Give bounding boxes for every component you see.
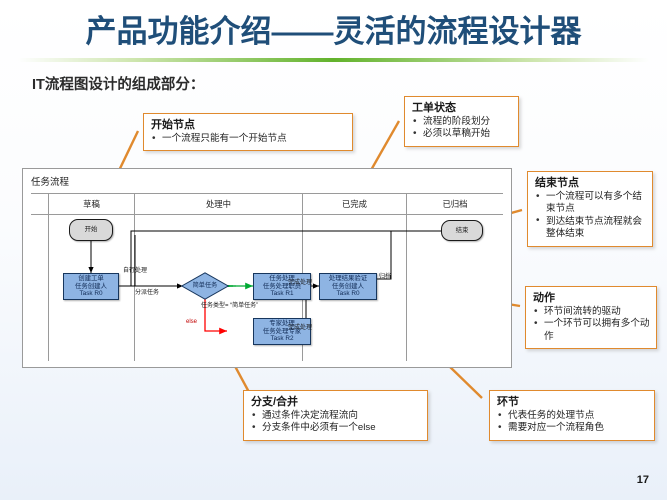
callout-start-node-list: 一个流程只能有一个开始节点 (151, 133, 346, 145)
callout-branch-merge-bullet-1: 通过条件决定流程流向 (251, 410, 421, 422)
callout-ticket-status-bullet-2: 必须以草稿开始 (412, 128, 512, 140)
callout-action-bullet-1: 环节间流转的驱动 (533, 306, 650, 318)
callout-branch-merge-list: 通过条件决定流程流向 分支条件中必须有一个else (251, 410, 421, 435)
callout-step[interactable]: 环节 代表任务的处理节点 需要对应一个流程角色 (489, 390, 655, 441)
callout-branch-merge-title: 分支/合并 (251, 395, 421, 409)
callout-end-node-bullet-1: 一个流程可以有多个结束节点 (535, 191, 646, 216)
callout-ticket-status[interactable]: 工单状态 流程的阶段划分 必须以草稿开始 (404, 96, 519, 147)
edge-label-self-handle: 自行处理 (123, 265, 147, 274)
callout-step-bullet-1: 代表任务的处理节点 (497, 410, 648, 422)
edge-label-finish-2: 完成处理 (288, 322, 312, 331)
callout-branch-merge[interactable]: 分支/合并 通过条件决定流程流向 分支条件中必须有一个else (243, 390, 428, 441)
callout-action[interactable]: 动作 环节间流转的驱动 一个环节可以拥有多个动作 (525, 286, 657, 349)
callout-start-node-bullet-1: 一个流程只能有一个开始节点 (151, 133, 346, 145)
flow-diagram: 任务流程 草稿 处理中 已完成 已归档 (22, 168, 512, 368)
callout-action-title: 动作 (533, 291, 650, 305)
node-start-label: 开始 (85, 226, 98, 234)
node-create-ticket[interactable]: 创建工单 任务创建人 Task R0 (63, 273, 119, 300)
callout-ticket-status-title: 工单状态 (412, 101, 512, 115)
node-end-label: 结束 (456, 227, 469, 235)
edge-label-archive: 归档 (379, 271, 391, 280)
node-decision-label: 简单任务 (193, 282, 218, 290)
node-decision-simple-task[interactable]: 简单任务 (181, 272, 229, 300)
node-create-line3: Task R0 (79, 290, 102, 298)
edge-label-else: else (186, 319, 197, 325)
callout-branch-merge-bullet-2: 分支条件中必须有一个else (251, 422, 421, 434)
callout-action-bullet-2: 一个环节可以拥有多个动作 (533, 318, 650, 343)
page-title: 产品功能介绍——灵活的流程设计器 (0, 6, 667, 51)
callout-step-list: 代表任务的处理节点 需要对应一个流程角色 (497, 410, 648, 435)
node-start[interactable]: 开始 (69, 219, 113, 241)
callout-end-node[interactable]: 结束节点 一个流程可以有多个结束节点 到达结束节点流程就会整体结束 (527, 171, 653, 247)
title-divider (18, 58, 649, 62)
callout-end-node-list: 一个流程可以有多个结束节点 到达结束节点流程就会整体结束 (535, 191, 646, 241)
callout-action-list: 环节间流转的驱动 一个环节可以拥有多个动作 (533, 306, 650, 343)
node-verify-line1: 处理结果验证 (329, 275, 367, 283)
node-expert-line3: Task R2 (270, 335, 293, 343)
node-create-line1: 创建工单 (78, 275, 104, 283)
node-verify-line3: Task R0 (336, 290, 359, 298)
node-verify-line2: 任务创建人 (332, 283, 364, 291)
callout-end-node-bullet-2: 到达结束节点流程就会整体结束 (535, 216, 646, 241)
callout-step-bullet-2: 需要对应一个流程角色 (497, 422, 648, 434)
edge-label-dispatch: 分派任务 (135, 287, 159, 296)
page-number: 17 (637, 474, 649, 486)
node-handle-line3: Task R1 (270, 290, 293, 298)
subtitle: IT流程图设计的组成部分： (32, 73, 204, 94)
callout-ticket-status-list: 流程的阶段划分 必须以草稿开始 (412, 116, 512, 141)
callout-ticket-status-bullet-1: 流程的阶段划分 (412, 116, 512, 128)
node-end[interactable]: 结束 (441, 220, 483, 241)
callout-end-node-title: 结束节点 (535, 176, 646, 190)
callout-step-title: 环节 (497, 395, 648, 409)
node-create-line2: 任务创建人 (75, 283, 107, 291)
node-verify-result[interactable]: 处理结果验证 任务创建人 Task R0 (319, 273, 377, 300)
edge-label-finish-1: 完成处理 (288, 277, 312, 286)
slide-canvas: 产品功能介绍——灵活的流程设计器 IT流程图设计的组成部分： (0, 0, 667, 500)
callout-start-node[interactable]: 开始节点 一个流程只能有一个开始节点 (143, 113, 353, 151)
callout-start-node-title: 开始节点 (151, 118, 346, 132)
edge-label-condition: 任务类型= “简单任务” (201, 300, 258, 309)
